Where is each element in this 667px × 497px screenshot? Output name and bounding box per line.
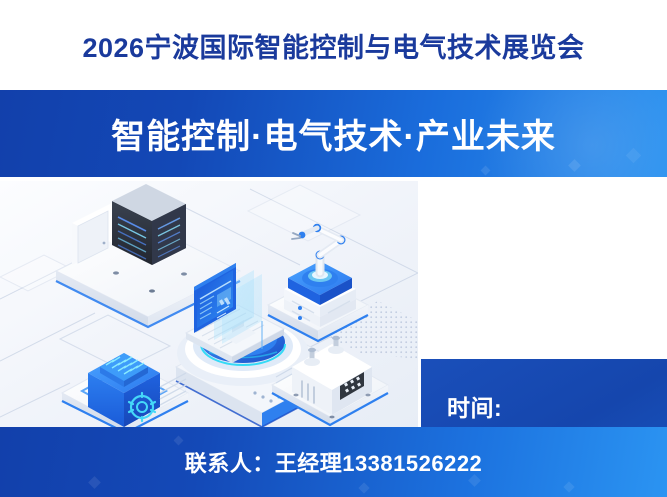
diamond-decoration-icon — [563, 481, 574, 492]
page-title: 2026宁波国际智能控制与电气技术展览会 — [82, 26, 584, 65]
diamond-decoration-icon — [358, 482, 369, 493]
diamond-decoration-icon — [174, 436, 184, 446]
poster-middle-section: 时间: 2026年5月13-15日 地点: 宁波国际会展中心 — [0, 177, 667, 427]
contact-info: 联系人：王经理13381526222 — [185, 446, 483, 478]
time-label: 时间: — [447, 389, 502, 423]
poster-title-bar: 2026宁波国际智能控制与电气技术展览会 — [0, 0, 667, 90]
exhibition-poster: 2026宁波国际智能控制与电气技术展览会 智能控制·电气技术·产业未来 — [0, 0, 667, 497]
poster-subtitle-band: 智能控制·电气技术·产业未来 — [0, 90, 667, 177]
isometric-tech-illustration-svg — [0, 181, 418, 427]
poster-subtitle: 智能控制·电气技术·产业未来 — [111, 109, 556, 158]
poster-footer-band: 联系人：王经理13381526222 — [0, 427, 667, 497]
diamond-decoration-icon — [88, 476, 101, 489]
hero-illustration — [0, 181, 418, 427]
